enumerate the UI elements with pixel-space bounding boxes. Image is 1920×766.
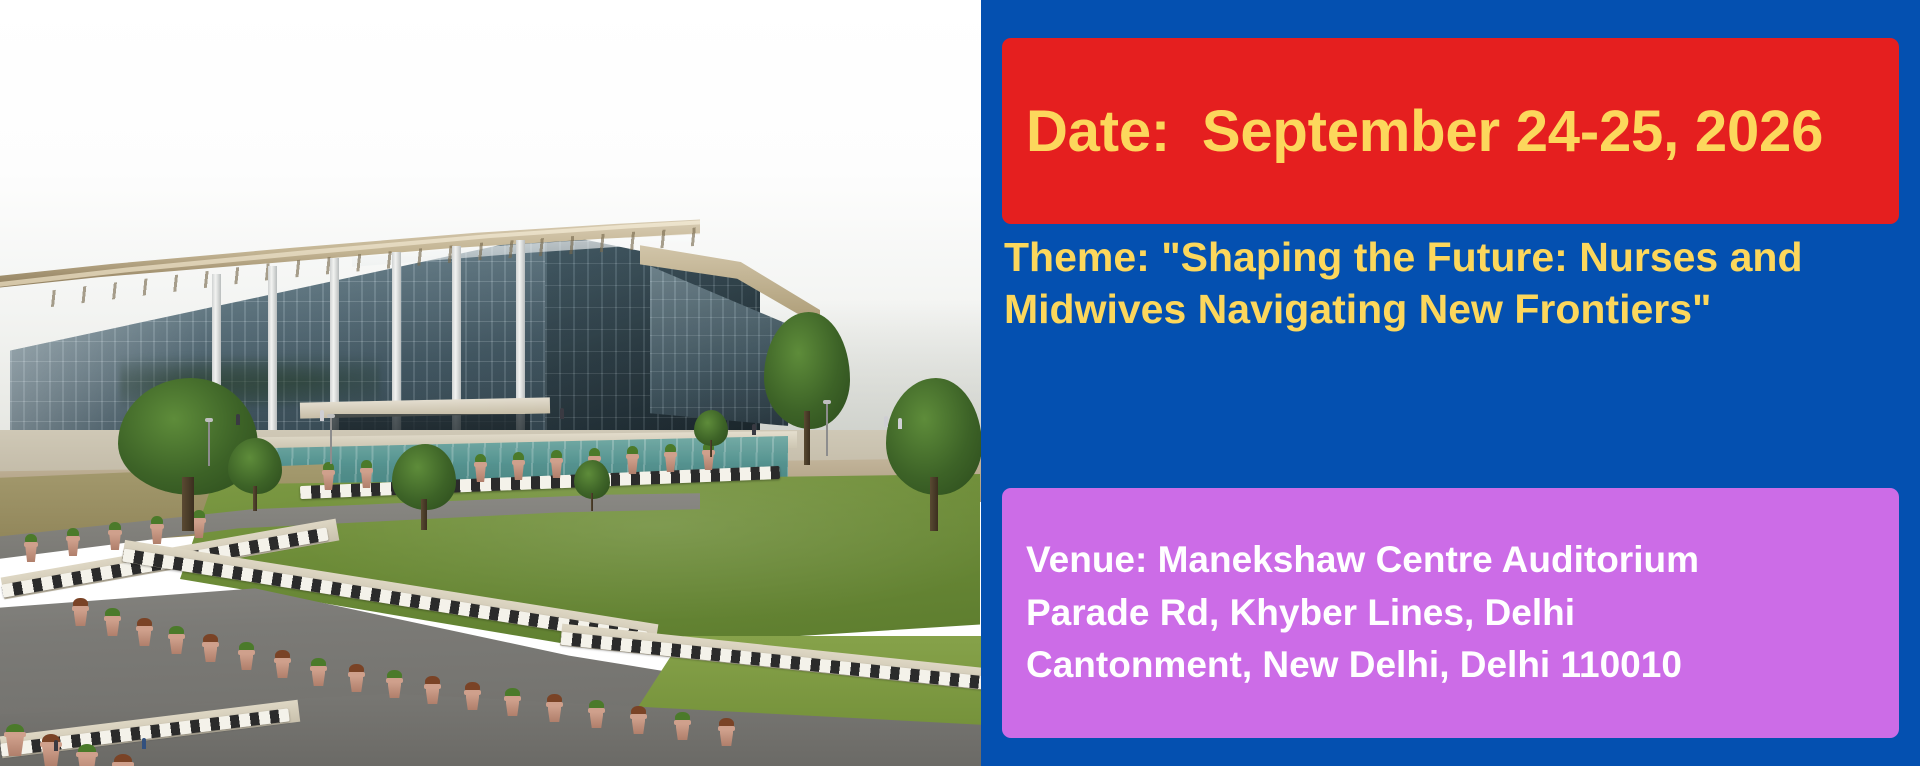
grounds xyxy=(0,430,981,766)
flower-pot xyxy=(464,682,481,716)
person xyxy=(54,740,58,751)
photo-stage xyxy=(0,0,981,766)
flower-pot xyxy=(202,634,219,668)
facade-column xyxy=(268,266,277,442)
person xyxy=(236,414,240,425)
flower-pot xyxy=(76,744,98,766)
person xyxy=(560,408,564,419)
flower-pot xyxy=(4,724,26,764)
tree xyxy=(392,444,456,528)
flower-pot xyxy=(474,454,487,482)
roof-canopy xyxy=(0,218,700,328)
event-info-panel: Date: September 24-25, 2026 Theme: "Shap… xyxy=(981,0,1920,766)
flower-pot xyxy=(626,446,639,474)
flower-pot xyxy=(718,718,735,752)
flower-pot xyxy=(424,676,441,710)
flower-pot xyxy=(674,712,691,746)
flower-pot xyxy=(348,664,365,698)
person xyxy=(752,424,756,435)
flower-pot xyxy=(504,688,521,722)
venue-banner: Venue: Manekshaw Centre Auditorium Parad… xyxy=(1002,488,1899,738)
flower-pot xyxy=(40,734,62,766)
flower-pot xyxy=(24,534,38,564)
tree xyxy=(764,312,850,462)
flower-pot xyxy=(66,528,80,558)
flower-pot xyxy=(168,626,185,660)
tree xyxy=(574,460,610,510)
flower-pot xyxy=(238,642,255,676)
flower-pot xyxy=(104,608,121,642)
person xyxy=(884,416,888,427)
light-pole xyxy=(208,422,210,466)
flower-pot xyxy=(664,444,677,472)
flower-pot xyxy=(630,706,647,740)
person xyxy=(142,738,146,749)
tree xyxy=(886,378,981,528)
flower-pot xyxy=(550,450,563,478)
theme-text: Theme: "Shaping the Future: Nurses and M… xyxy=(1004,232,1904,335)
flower-pot xyxy=(512,452,525,480)
light-pole xyxy=(330,418,332,464)
event-poster: Date: September 24-25, 2026 Theme: "Shap… xyxy=(0,0,1920,766)
flower-pot xyxy=(386,670,403,704)
light-pole xyxy=(826,404,828,456)
flower-pot xyxy=(274,650,291,684)
tree xyxy=(228,438,282,510)
flower-pot xyxy=(136,618,153,652)
date-text: Date: September 24-25, 2026 xyxy=(1002,98,1823,165)
person xyxy=(320,410,324,421)
tree xyxy=(694,410,728,456)
venue-text: Venue: Manekshaw Centre Auditorium Parad… xyxy=(1002,534,1699,693)
flower-pot xyxy=(546,694,563,728)
flower-pot xyxy=(588,700,605,734)
flower-pot xyxy=(360,460,373,488)
venue-photograph xyxy=(0,0,981,766)
flower-pot xyxy=(72,598,89,632)
flower-pot xyxy=(322,462,335,490)
date-banner: Date: September 24-25, 2026 xyxy=(1002,38,1899,224)
flower-pot xyxy=(112,754,134,766)
flower-pot xyxy=(310,658,327,692)
person xyxy=(898,418,902,429)
